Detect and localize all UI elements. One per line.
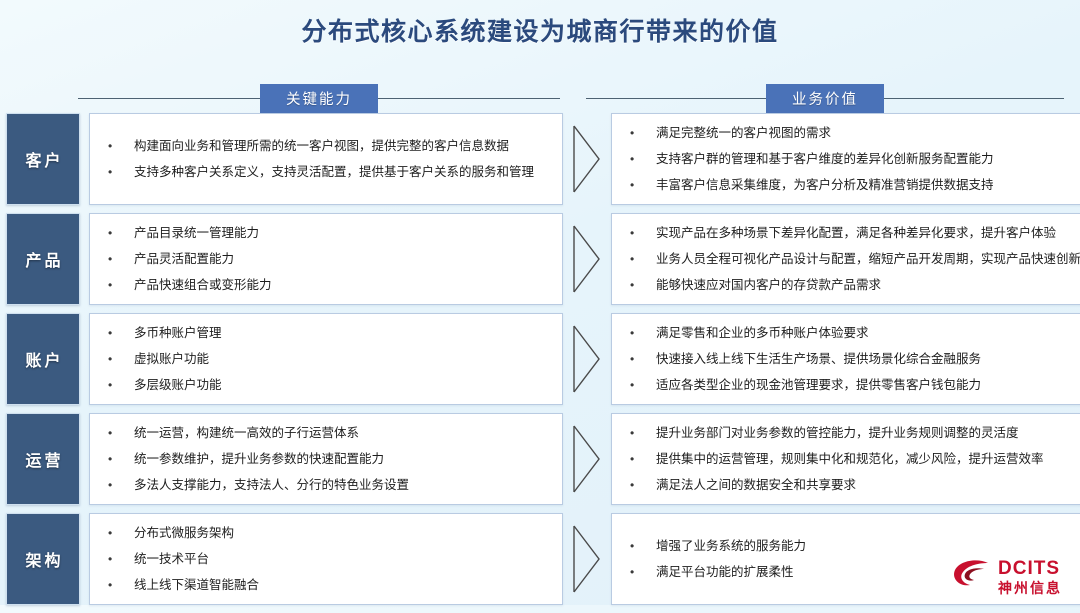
value-bullet-text: 满足完整统一的客户视图的需求 xyxy=(656,120,1080,146)
value-bullet: •实现产品在多种场景下差异化配置，满足各种差异化要求，提升客户体验 xyxy=(612,220,1080,246)
bullet-dot-icon: • xyxy=(630,446,656,472)
capabilities-panel: •分布式微服务架构•统一技术平台•线上线下渠道智能融合 xyxy=(89,513,563,605)
values-panel: •实现产品在多种场景下差异化配置，满足各种差异化要求，提升客户体验•业务人员全程… xyxy=(611,213,1080,305)
value-bullet-text: 业务人员全程可视化产品设计与配置，缩短产品开发周期，实现产品快速创新 xyxy=(656,246,1080,272)
bullet-dot-icon: • xyxy=(630,246,656,272)
chevron-right-icon xyxy=(563,213,611,305)
capability-bullet: •支持多种客户关系定义，支持灵活配置，提供基于客户关系的服务和管理 xyxy=(90,159,562,185)
bullet-dot-icon: • xyxy=(108,133,134,159)
header-rule-left xyxy=(586,98,766,99)
matrix-row: 账户•多币种账户管理•虚拟账户功能•多层级账户功能•满足零售和企业的多币种账户体… xyxy=(0,313,1080,405)
value-bullet-text: 快速接入线上线下生活生产场景、提供场景化综合金融服务 xyxy=(656,346,1080,372)
bullet-dot-icon: • xyxy=(108,220,134,246)
capability-bullet: •构建面向业务和管理所需的统一客户视图，提供完整的客户信息数据 xyxy=(90,133,562,159)
logo-brand-cn: 神州信息 xyxy=(998,581,1062,595)
chevron-right-icon xyxy=(563,113,611,205)
value-bullet-text: 满足零售和企业的多币种账户体验要求 xyxy=(656,320,1080,346)
column-headers: 关键能力 业务价值 xyxy=(0,85,1080,111)
category-label[interactable]: 客户 xyxy=(6,113,80,205)
capabilities-header-chip: 关键能力 xyxy=(260,84,378,113)
bullet-dot-icon: • xyxy=(108,159,134,185)
value-bullet: •满足零售和企业的多币种账户体验要求 xyxy=(612,320,1080,346)
header-rule-right xyxy=(378,98,560,99)
matrix-row: 运营•统一运营，构建统一高效的子行运营体系•统一参数维护，提升业务参数的快速配置… xyxy=(0,413,1080,505)
bullet-dot-icon: • xyxy=(108,246,134,272)
capability-bullet-text: 多法人支撑能力，支持法人、分行的特色业务设置 xyxy=(134,472,562,498)
logo-brand-en: DCITS xyxy=(998,559,1062,578)
capability-bullet-text: 多层级账户功能 xyxy=(134,372,562,398)
bullet-dot-icon: • xyxy=(630,120,656,146)
logo-text: DCITS 神州信息 xyxy=(998,559,1062,595)
capability-bullet: •统一技术平台 xyxy=(90,546,562,572)
capability-bullet-text: 统一参数维护，提升业务参数的快速配置能力 xyxy=(134,446,562,472)
bullet-dot-icon: • xyxy=(630,420,656,446)
bullet-dot-icon: • xyxy=(630,559,656,585)
capability-bullet-text: 产品快速组合或变形能力 xyxy=(134,272,562,298)
capabilities-panel: •统一运营，构建统一高效的子行运营体系•统一参数维护，提升业务参数的快速配置能力… xyxy=(89,413,563,505)
capability-bullet-text: 统一运营，构建统一高效的子行运营体系 xyxy=(134,420,562,446)
bullet-dot-icon: • xyxy=(630,533,656,559)
bullet-dot-icon: • xyxy=(108,320,134,346)
values-panel: •满足零售和企业的多币种账户体验要求•快速接入线上线下生活生产场景、提供场景化综… xyxy=(611,313,1080,405)
chevron-right-icon xyxy=(563,413,611,505)
capabilities-panel: •构建面向业务和管理所需的统一客户视图，提供完整的客户信息数据•支持多种客户关系… xyxy=(89,113,563,205)
capability-bullet-text: 产品灵活配置能力 xyxy=(134,246,562,272)
bullet-dot-icon: • xyxy=(108,372,134,398)
value-bullet: •提供集中的运营管理，规则集中化和规范化，减少风险，提升运营效率 xyxy=(612,446,1080,472)
capability-bullet-text: 分布式微服务架构 xyxy=(134,520,562,546)
capability-bullet-text: 统一技术平台 xyxy=(134,546,562,572)
bullet-dot-icon: • xyxy=(630,472,656,498)
value-bullet: •提升业务部门对业务参数的管控能力，提升业务规则调整的灵活度 xyxy=(612,420,1080,446)
capability-bullet: •线上线下渠道智能融合 xyxy=(90,572,562,598)
value-bullet-text: 能够快速应对国内客户的存贷款产品需求 xyxy=(656,272,1080,298)
category-label[interactable]: 运营 xyxy=(6,413,80,505)
capability-bullet: •多币种账户管理 xyxy=(90,320,562,346)
chevron-right-icon xyxy=(563,313,611,405)
bullet-dot-icon: • xyxy=(630,172,656,198)
bullet-dot-icon: • xyxy=(630,220,656,246)
capability-bullet: •产品灵活配置能力 xyxy=(90,246,562,272)
capability-bullet-text: 虚拟账户功能 xyxy=(134,346,562,372)
header-rule-left xyxy=(78,98,260,99)
capability-bullet: •统一参数维护，提升业务参数的快速配置能力 xyxy=(90,446,562,472)
swoosh-icon xyxy=(952,558,992,595)
values-header-chip: 业务价值 xyxy=(766,84,884,113)
value-bullet: •支持客户群的管理和基于客户维度的差异化创新服务配置能力 xyxy=(612,146,1080,172)
value-bullet: •能够快速应对国内客户的存贷款产品需求 xyxy=(612,272,1080,298)
slide-title-bar: 分布式核心系统建设为城商行带来的价值 xyxy=(0,12,1080,48)
capability-bullet: •产品目录统一管理能力 xyxy=(90,220,562,246)
capabilities-panel: •产品目录统一管理能力•产品灵活配置能力•产品快速组合或变形能力 xyxy=(89,213,563,305)
header-rule-right xyxy=(884,98,1064,99)
bullet-dot-icon: • xyxy=(108,272,134,298)
value-bullet: •满足完整统一的客户视图的需求 xyxy=(612,120,1080,146)
bullet-dot-icon: • xyxy=(108,346,134,372)
capability-bullet: •多层级账户功能 xyxy=(90,372,562,398)
bullet-dot-icon: • xyxy=(630,346,656,372)
value-bullet: •满足法人之间的数据安全和共享要求 xyxy=(612,472,1080,498)
chevron-right-icon xyxy=(563,513,611,605)
capability-bullet: •统一运营，构建统一高效的子行运营体系 xyxy=(90,420,562,446)
bullet-dot-icon: • xyxy=(630,146,656,172)
value-bullet-text: 适应各类型企业的现金池管理要求，提供零售客户钱包能力 xyxy=(656,372,1080,398)
value-bullet-text: 实现产品在多种场景下差异化配置，满足各种差异化要求，提升客户体验 xyxy=(656,220,1080,246)
capability-bullet: •虚拟账户功能 xyxy=(90,346,562,372)
matrix-row: 客户•构建面向业务和管理所需的统一客户视图，提供完整的客户信息数据•支持多种客户… xyxy=(0,113,1080,205)
bullet-dot-icon: • xyxy=(108,420,134,446)
capability-bullet-text: 支持多种客户关系定义，支持灵活配置，提供基于客户关系的服务和管理 xyxy=(134,159,562,185)
category-label[interactable]: 架构 xyxy=(6,513,80,605)
value-bullet: •业务人员全程可视化产品设计与配置，缩短产品开发周期，实现产品快速创新 xyxy=(612,246,1080,272)
capability-bullet-text: 构建面向业务和管理所需的统一客户视图，提供完整的客户信息数据 xyxy=(134,133,562,159)
bullet-dot-icon: • xyxy=(630,320,656,346)
column-header-values: 业务价值 xyxy=(586,85,1064,111)
bullet-dot-icon: • xyxy=(108,472,134,498)
value-bullet-text: 提升业务部门对业务参数的管控能力，提升业务规则调整的灵活度 xyxy=(656,420,1080,446)
capabilities-panel: •多币种账户管理•虚拟账户功能•多层级账户功能 xyxy=(89,313,563,405)
value-bullet-text: 满足法人之间的数据安全和共享要求 xyxy=(656,472,1080,498)
matrix-row: 产品•产品目录统一管理能力•产品灵活配置能力•产品快速组合或变形能力•实现产品在… xyxy=(0,213,1080,305)
category-label[interactable]: 账户 xyxy=(6,313,80,405)
capability-bullet: •产品快速组合或变形能力 xyxy=(90,272,562,298)
value-bullet-text: 丰富客户信息采集维度，为客户分析及精准营销提供数据支持 xyxy=(656,172,1080,198)
bullet-dot-icon: • xyxy=(108,572,134,598)
category-label[interactable]: 产品 xyxy=(6,213,80,305)
values-panel: •满足完整统一的客户视图的需求•支持客户群的管理和基于客户维度的差异化创新服务配… xyxy=(611,113,1080,205)
capability-bullet-text: 产品目录统一管理能力 xyxy=(134,220,562,246)
value-bullet: •快速接入线上线下生活生产场景、提供场景化综合金融服务 xyxy=(612,346,1080,372)
matrix-row: 架构•分布式微服务架构•统一技术平台•线上线下渠道智能融合•增强了业务系统的服务… xyxy=(0,513,1080,605)
bullet-dot-icon: • xyxy=(630,272,656,298)
bullet-dot-icon: • xyxy=(108,446,134,472)
bullet-dot-icon: • xyxy=(630,372,656,398)
matrix-rows: 客户•构建面向业务和管理所需的统一客户视图，提供完整的客户信息数据•支持多种客户… xyxy=(0,113,1080,613)
capability-bullet: •多法人支撑能力，支持法人、分行的特色业务设置 xyxy=(90,472,562,498)
value-bullet: •丰富客户信息采集维度，为客户分析及精准营销提供数据支持 xyxy=(612,172,1080,198)
page-title: 分布式核心系统建设为城商行带来的价值 xyxy=(301,18,778,46)
bullet-dot-icon: • xyxy=(108,546,134,572)
bullet-dot-icon: • xyxy=(108,520,134,546)
company-logo: DCITS 神州信息 xyxy=(952,558,1062,595)
value-bullet-text: 支持客户群的管理和基于客户维度的差异化创新服务配置能力 xyxy=(656,146,1080,172)
value-bullet-text: 提供集中的运营管理，规则集中化和规范化，减少风险，提升运营效率 xyxy=(656,446,1080,472)
column-header-capabilities: 关键能力 xyxy=(78,85,560,111)
value-bullet: •增强了业务系统的服务能力 xyxy=(612,533,1080,559)
capability-bullet: •分布式微服务架构 xyxy=(90,520,562,546)
capability-bullet-text: 线上线下渠道智能融合 xyxy=(134,572,562,598)
capability-bullet-text: 多币种账户管理 xyxy=(134,320,562,346)
value-bullet: •适应各类型企业的现金池管理要求，提供零售客户钱包能力 xyxy=(612,372,1080,398)
values-panel: •提升业务部门对业务参数的管控能力，提升业务规则调整的灵活度•提供集中的运营管理… xyxy=(611,413,1080,505)
value-bullet-text: 增强了业务系统的服务能力 xyxy=(656,533,1080,559)
